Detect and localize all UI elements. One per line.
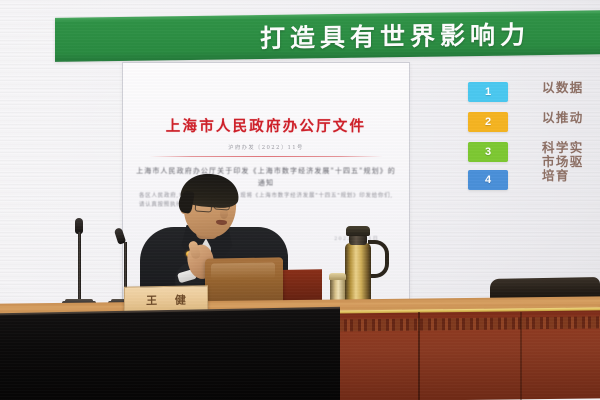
microphone-stem bbox=[78, 232, 81, 300]
laptop-screen-sheen bbox=[211, 262, 275, 279]
list-badge-4: 4 bbox=[468, 170, 508, 190]
desk-seam bbox=[520, 312, 522, 400]
list-text-2: 以推动 bbox=[542, 111, 584, 125]
outline-list: 1 以数据 2 以推动 3 科学实 市场驱 4 培育 bbox=[468, 82, 600, 200]
list-badge-1: 1 bbox=[468, 82, 508, 102]
document-divider bbox=[149, 156, 383, 157]
screenshot-root: 打造具有世界影响力 上海市人民政府办公厅文件 沪府办发〔2022〕11号 上海市… bbox=[0, 0, 600, 400]
list-text-3: 科学实 市场驱 bbox=[542, 141, 584, 169]
desk-dark-panel bbox=[0, 309, 340, 400]
desk-seam bbox=[418, 312, 420, 400]
document-number: 沪府办发〔2022〕11号 bbox=[123, 143, 409, 151]
list-item: 1 以数据 bbox=[468, 82, 600, 94]
thermos-cap bbox=[346, 226, 370, 236]
list-item: 4 培育 bbox=[468, 170, 600, 182]
laptop bbox=[205, 257, 283, 306]
list-text-4: 培育 bbox=[542, 169, 570, 183]
thermos-handle bbox=[368, 240, 389, 278]
list-item: 3 科学实 市场驱 bbox=[468, 142, 600, 154]
list-badge-3: 3 bbox=[468, 142, 508, 162]
list-badge-2: 2 bbox=[468, 112, 508, 132]
slide-banner: 打造具有世界影响力 bbox=[55, 10, 600, 62]
tea-cup-lid bbox=[329, 273, 346, 280]
list-item: 2 以推动 bbox=[468, 112, 600, 124]
nose bbox=[220, 209, 228, 219]
document-title: 上海市人民政府办公厅文件 bbox=[123, 115, 409, 136]
nameplate-text: 王 健 bbox=[139, 291, 193, 308]
slide-banner-title: 打造具有世界影响力 bbox=[260, 15, 530, 55]
thermos-flask bbox=[345, 243, 371, 305]
list-text-1: 以数据 bbox=[542, 81, 584, 95]
microphone-left bbox=[62, 218, 98, 312]
